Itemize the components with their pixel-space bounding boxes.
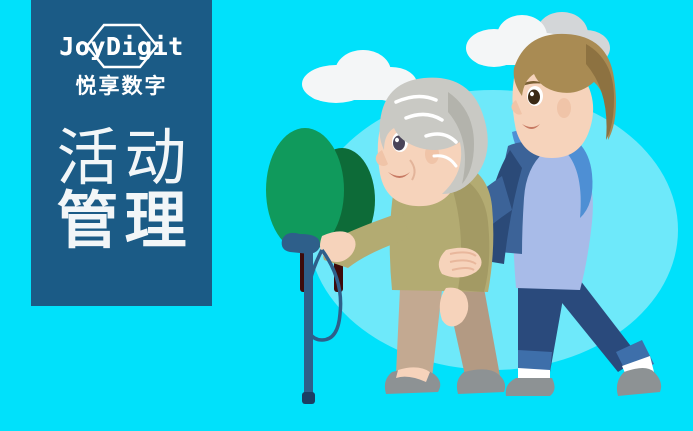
page-title-line-1: 活动 bbox=[50, 125, 192, 191]
banner-canvas: JoyDigit 悦享数字 活动 管理 bbox=[0, 0, 693, 431]
page-title-line-2: 管理 bbox=[50, 189, 192, 255]
logo-block: JoyDigit 悦享数字 bbox=[31, 22, 212, 97]
logo-subtitle: 悦享数字 bbox=[76, 76, 168, 97]
logo-wordmark: JoyDigit bbox=[59, 34, 183, 59]
brand-panel: JoyDigit 悦享数字 活动 管理 bbox=[31, 0, 212, 306]
illustration bbox=[250, 0, 693, 431]
page-title: 活动 管理 bbox=[31, 125, 212, 254]
logo-mark: JoyDigit bbox=[47, 22, 197, 70]
elderly-figure bbox=[320, 78, 505, 394]
